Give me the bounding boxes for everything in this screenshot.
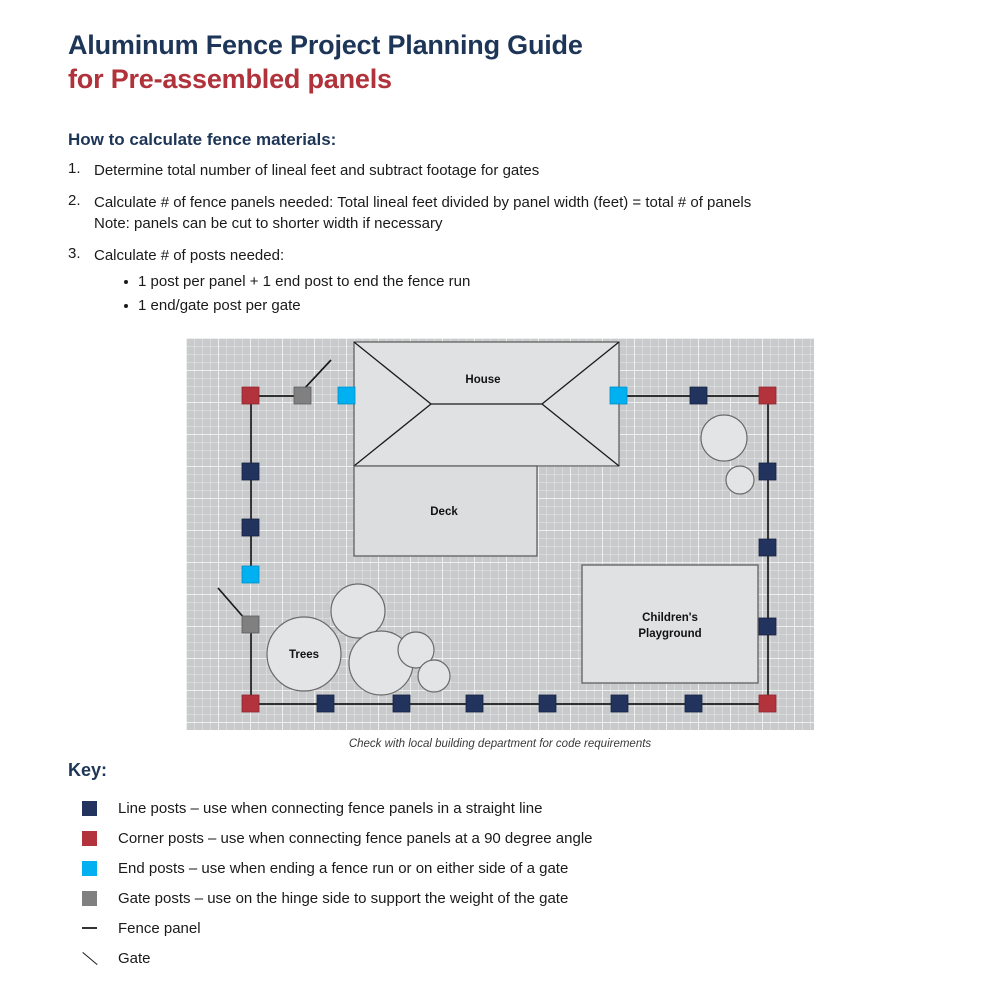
tree-circle	[418, 660, 450, 692]
key-heading: Key:	[68, 760, 107, 781]
tree-cluster-right	[701, 415, 754, 494]
line-post-marker[interactable]	[685, 695, 702, 712]
corner-post-marker[interactable]	[759, 695, 776, 712]
line-post-marker[interactable]	[759, 463, 776, 480]
section-heading: How to calculate fence materials:	[68, 130, 336, 150]
end-post-swatch-icon	[82, 861, 97, 876]
list-item: 1. Determine total number of lineal feet…	[68, 160, 948, 181]
line-post-marker[interactable]	[466, 695, 483, 712]
step-number: 1.	[68, 160, 94, 181]
key-item-end-post: End posts – use when ending a fence run …	[82, 853, 593, 883]
line-post-marker[interactable]	[242, 519, 259, 536]
step-number: 3.	[68, 245, 94, 318]
diagram-svg: House Deck Children's Playground Trees	[186, 338, 814, 730]
line-post-swatch-icon	[82, 801, 97, 816]
house-shape	[354, 342, 619, 466]
step-number: 2.	[68, 192, 94, 234]
key-item-fence-panel: Fence panel	[82, 913, 593, 943]
playground-label-line1: Children's	[642, 612, 698, 624]
step-note: Note: panels can be cut to shorter width…	[94, 213, 751, 234]
key-item-line-post: Line posts – use when connecting fence p…	[82, 793, 593, 823]
diagram-caption: Check with local building department for…	[186, 738, 814, 750]
sub-list-item: 1 end/gate post per gate	[124, 294, 470, 318]
key-item-label: Corner posts – use when connecting fence…	[118, 830, 593, 847]
line-post-marker[interactable]	[317, 695, 334, 712]
site-plan-diagram: House Deck Children's Playground Trees	[186, 338, 814, 730]
steps-list: 1. Determine total number of lineal feet…	[68, 160, 948, 329]
corner-post-marker[interactable]	[759, 387, 776, 404]
corner-post-swatch-icon	[82, 831, 97, 846]
title-line-1: Aluminum Fence Project Planning Guide	[68, 28, 583, 62]
tree-circle	[726, 466, 754, 494]
corner-post-marker[interactable]	[242, 387, 259, 404]
tree-circle	[701, 415, 747, 461]
gate-post-marker[interactable]	[242, 616, 259, 633]
trees-label: Trees	[289, 649, 319, 661]
line-post-marker[interactable]	[393, 695, 410, 712]
key-item-corner-post: Corner posts – use when connecting fence…	[82, 823, 593, 853]
tree-cluster-left	[267, 584, 450, 695]
end-post-marker[interactable]	[610, 387, 627, 404]
key-legend: Line posts – use when connecting fence p…	[82, 793, 593, 973]
tree-circle	[331, 584, 385, 638]
gate-swing-lines	[218, 360, 331, 619]
key-item-label: End posts – use when ending a fence run …	[118, 860, 568, 877]
gate-slash-icon	[82, 950, 98, 966]
gate-swing-top	[303, 360, 331, 390]
step-text: Calculate # of fence panels needed: Tota…	[94, 194, 751, 211]
key-item-label: Gate posts – use on the hinge side to su…	[118, 890, 568, 907]
line-post-marker[interactable]	[759, 539, 776, 556]
key-item-label: Gate	[118, 950, 151, 967]
page-title: Aluminum Fence Project Planning Guide fo…	[68, 28, 583, 96]
sub-list: 1 post per panel + 1 end post to end the…	[124, 270, 470, 318]
list-item: 2. Calculate # of fence panels needed: T…	[68, 192, 948, 234]
end-post-marker[interactable]	[338, 387, 355, 404]
step-text: Calculate # of posts needed:	[94, 247, 284, 264]
page-root: Aluminum Fence Project Planning Guide fo…	[0, 0, 1000, 1000]
gate-post-swatch-icon	[82, 891, 97, 906]
corner-post-marker[interactable]	[242, 695, 259, 712]
house-label: House	[465, 374, 500, 386]
key-item-label: Fence panel	[118, 920, 201, 937]
line-post-marker[interactable]	[690, 387, 707, 404]
playground-label-line2: Playground	[638, 628, 701, 640]
gate-swing-left	[218, 588, 245, 619]
end-post-marker[interactable]	[242, 566, 259, 583]
fence-panel-dash-icon	[82, 927, 97, 929]
step-text: Determine total number of lineal feet an…	[94, 162, 539, 179]
gate-post-marker[interactable]	[294, 387, 311, 404]
key-item-gate: Gate	[82, 943, 593, 973]
line-post-marker[interactable]	[611, 695, 628, 712]
title-line-2: for Pre-assembled panels	[68, 62, 583, 96]
line-post-marker[interactable]	[242, 463, 259, 480]
sub-list-item: 1 post per panel + 1 end post to end the…	[124, 270, 470, 294]
line-post-marker[interactable]	[759, 618, 776, 635]
key-item-label: Line posts – use when connecting fence p…	[118, 800, 542, 817]
key-item-gate-post: Gate posts – use on the hinge side to su…	[82, 883, 593, 913]
playground-shape	[582, 565, 758, 683]
list-item: 3. Calculate # of posts needed: 1 post p…	[68, 245, 948, 318]
line-post-marker[interactable]	[539, 695, 556, 712]
deck-label: Deck	[430, 506, 458, 518]
